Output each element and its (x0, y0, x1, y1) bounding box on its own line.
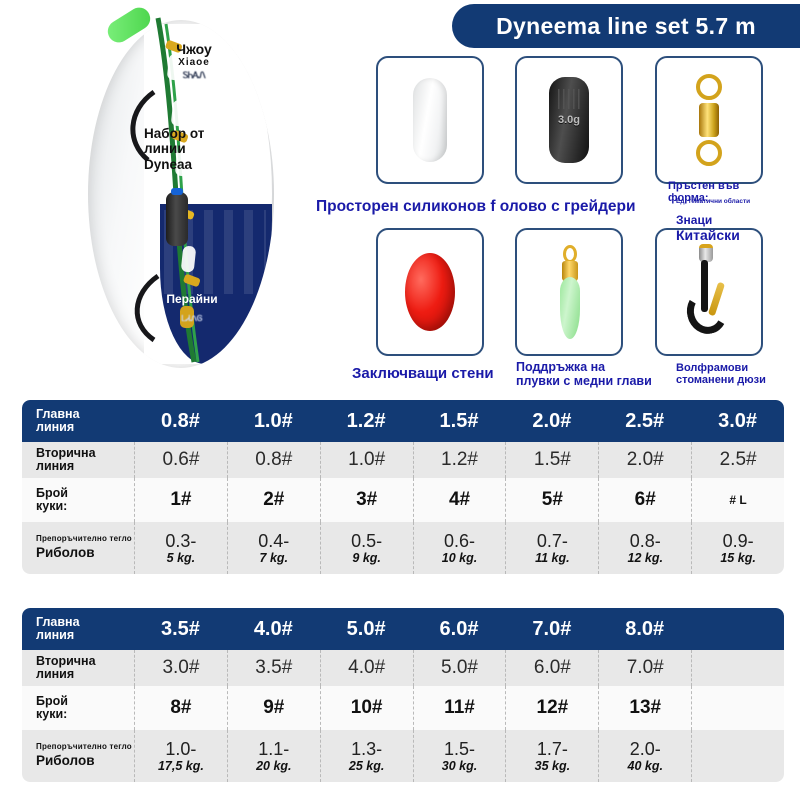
table-two-hooks-row: Брой куки: 8# 9# 10# 11# 12# 13# (22, 686, 784, 730)
icon-box-fishing-hook[interactable] (655, 228, 763, 356)
table-cell: 7.0# (598, 650, 691, 686)
table-cell: 0.8# (227, 442, 320, 478)
table-cell: 5.0# (320, 608, 413, 650)
product-package-illustration: Чжоу Xiaoe ᏚᏂᎪᏁ Набор от линии Dyneaa Пе… (62, 14, 302, 374)
red-bead-icon (378, 230, 482, 354)
table-cell: # L (691, 478, 784, 522)
row-label-hook-count: Брой куки: (22, 686, 134, 730)
table-one-secondary-row: Вторична линия 0.6# 0.8# 1.0# 1.2# 1.5# … (22, 442, 784, 478)
table-cell: 4# (413, 478, 506, 522)
table-cell: 0.6- 10 kg. (413, 522, 506, 574)
table-cell: 1.2# (413, 442, 506, 478)
table-cell: 7.0# (505, 608, 598, 650)
table-cell: 4.0# (227, 608, 320, 650)
caption-ring-znaci: Знаци (676, 214, 712, 227)
table-cell: 2.0# (505, 400, 598, 442)
table-cell: 1.0# (320, 442, 413, 478)
table-two-secondary-row: Вторична линия 3.0# 3.5# 4.0# 5.0# 6.0# … (22, 650, 784, 686)
row-label-hook-count: Брой куки: (22, 478, 134, 522)
table-cell: 3.5# (134, 608, 227, 650)
table-cell: 1# (134, 478, 227, 522)
caption-ring-main: Пръстен във (668, 180, 792, 192)
table-cell: 8.0# (598, 608, 691, 650)
package-blue-label: Перайни (140, 292, 244, 306)
package-inline-weight-icon (166, 192, 188, 246)
table-cell: 1.3- 25 kg. (320, 730, 413, 782)
table-cell: 3# (320, 478, 413, 522)
sinker-ribs (558, 89, 580, 109)
row-label-main-line: Главна линия (22, 400, 134, 442)
package-blue-mark: ᏞᏗᏁᎶ (150, 314, 234, 324)
table-cell: 1.0# (227, 400, 320, 442)
brand-cyrillic: Чжоу (146, 42, 242, 57)
caption-tungsten-nozzles: Волфрамови стоманени дюзи (676, 362, 796, 387)
table-cell-empty (691, 650, 784, 686)
table-cell: 3.0# (691, 400, 784, 442)
table-cell: 1.7- 35 kg. (505, 730, 598, 782)
table-cell: 11# (413, 686, 506, 730)
caption-float-line2: плувки с медни глави (516, 374, 666, 388)
lead-sinker-icon: 3.0g (517, 58, 621, 182)
table-cell: 1.5# (505, 442, 598, 478)
icon-box-red-bead[interactable] (376, 228, 484, 356)
table-cell: 0.8- 12 kg. (598, 522, 691, 574)
row-label-secondary-line: Вторична линия (22, 442, 134, 478)
table-cell: 1.2# (320, 400, 413, 442)
package-subtitle-line1: Набор от (144, 126, 248, 141)
caption-ring-kitayski: Китайски (676, 228, 740, 244)
table-cell: 4.0# (320, 650, 413, 686)
table-cell: 10# (320, 686, 413, 730)
package-subtitle: Набор от линии Dyneaa (144, 126, 248, 172)
table-cell-empty (691, 730, 784, 782)
table-cell: 0.3- 5 kg. (134, 522, 227, 574)
icon-box-lead-sinker[interactable]: 3.0g (515, 56, 623, 184)
table-cell: 0.7- 11 kg. (505, 522, 598, 574)
package-brand-block: Чжоу Xiaoe ᏚᏂᎪᏁ (146, 42, 242, 81)
table-cell: 6# (598, 478, 691, 522)
table-cell: 5# (505, 478, 598, 522)
table-two-header-row: Главна линия 3.5# 4.0# 5.0# 6.0# 7.0# 8.… (22, 608, 784, 650)
caption-locking-walls: Заключващи стени (352, 366, 494, 383)
table-cell: 6.0# (413, 608, 506, 650)
package-subtitle-line3: Dyneaa (144, 157, 248, 172)
page-title: Dyneema line set 5.7 m (496, 13, 756, 40)
caption-silicone: Просторен силиконов f олово с грейдери (316, 198, 636, 215)
row-label-recommended-weight: Препоръчително тегло Риболов (22, 522, 134, 574)
caption-float-support: Поддръжка на плувки с медни глави (516, 360, 666, 388)
table-cell: 0.8# (134, 400, 227, 442)
table-cell: 12# (505, 686, 598, 730)
spec-table-two: Главна линия 3.5# 4.0# 5.0# 6.0# 7.0# 8.… (22, 608, 784, 782)
table-cell: 3.5# (227, 650, 320, 686)
green-float-icon (517, 230, 621, 354)
table-cell: 1.1- 20 kg. (227, 730, 320, 782)
table-cell: 1.5- 30 kg. (413, 730, 506, 782)
table-cell: 2.5# (691, 442, 784, 478)
table-cell: 0.5- 9 kg. (320, 522, 413, 574)
table-cell: 6.0# (505, 650, 598, 686)
table-cell: 0.6# (134, 442, 227, 478)
caption-tungsten-line1: Волфрамови (676, 362, 796, 374)
table-cell: 2# (227, 478, 320, 522)
spec-table-one: Главна линия 0.8# 1.0# 1.2# 1.5# 2.0# 2.… (22, 400, 784, 574)
row-label-secondary-line: Вторична линия (22, 650, 134, 686)
icon-box-barrel-swivel[interactable] (655, 56, 763, 184)
icon-box-green-float[interactable] (515, 228, 623, 356)
table-cell: 1.5# (413, 400, 506, 442)
table-cell: 2.0- 40 kg. (598, 730, 691, 782)
table-cell: 3.0# (134, 650, 227, 686)
table-one-hooks-row: Брой куки: 1# 2# 3# 4# 5# 6# # L (22, 478, 784, 522)
table-cell: 9# (227, 686, 320, 730)
table-one-weight-row: Препоръчително тегло Риболов 0.3- 5 kg. … (22, 522, 784, 574)
table-cell: 2.0# (598, 442, 691, 478)
row-label-main-line: Главна линия (22, 608, 134, 650)
table-cell: 13# (598, 686, 691, 730)
caption-tungsten-line2: стоманени дюзи (676, 374, 796, 386)
row-label-recommended-weight: Препоръчително тегло Риболов (22, 730, 134, 782)
table-cell-empty (691, 686, 784, 730)
caption-ring-small: Ед. тематични области (676, 198, 786, 205)
table-cell: 0.9- 15 kg. (691, 522, 784, 574)
silicone-capsule-icon (378, 58, 482, 182)
table-cell: 1.0- 17,5 kg. (134, 730, 227, 782)
fishing-hook-icon (657, 230, 761, 354)
table-two-weight-row: Препоръчително тегло Риболов 1.0- 17,5 k… (22, 730, 784, 782)
table-cell: 0.4- 7 kg. (227, 522, 320, 574)
table-one-header-row: Главна линия 0.8# 1.0# 1.2# 1.5# 2.0# 2.… (22, 400, 784, 442)
brand-mark: ᏚᏂᎪᏁ (146, 70, 242, 81)
brand-latin: Xiaoe (146, 57, 242, 68)
barrel-swivel-icon (657, 58, 761, 182)
package-subtitle-line2: линии (144, 141, 248, 156)
sinker-weight-label: 3.0g (558, 114, 580, 126)
table-cell: 2.5# (598, 400, 691, 442)
title-banner: Dyneema line set 5.7 m (452, 4, 800, 48)
icon-box-silicone-capsule[interactable] (376, 56, 484, 184)
table-cell-empty (691, 608, 784, 650)
caption-float-line1: Поддръжка на (516, 360, 666, 374)
table-cell: 8# (134, 686, 227, 730)
table-cell: 5.0# (413, 650, 506, 686)
